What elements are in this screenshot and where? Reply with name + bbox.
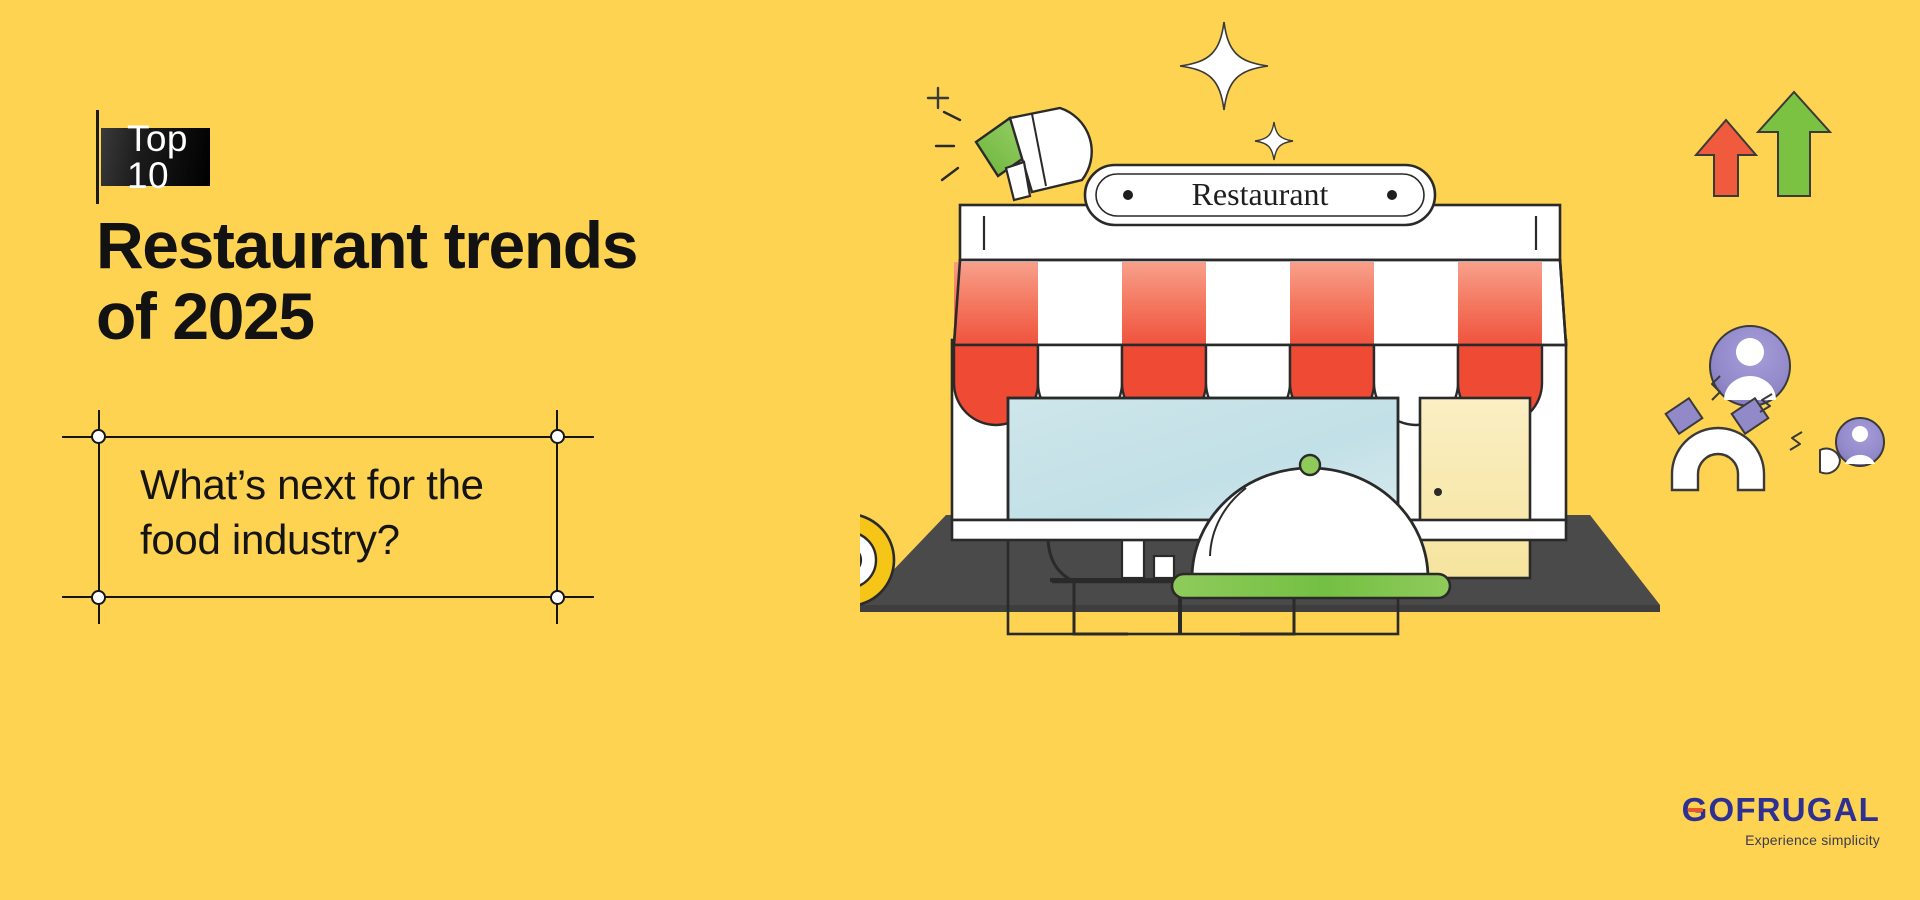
leaf-icon [1820,449,1840,474]
badge-tick-mark [96,110,99,204]
small-sparkle-icon [1255,122,1293,160]
badge-chip: Top 10 [101,128,210,186]
logo-tagline: Experience simplicity [1682,832,1880,848]
restaurant-illustration: Restaurant [860,0,1920,900]
frame-corner-dot-bottom-right [550,590,565,605]
page-subtitle: What’s next for the food industry? [140,458,560,567]
storefront-sign: Restaurant [1085,165,1435,225]
logo-wordmark: GOFRUGAL [1682,793,1880,826]
page-title: Restaurant trends of 2025 [96,210,816,351]
subhead-line-1: What’s next for the [140,461,484,508]
brand-logo: GOFRUGAL Experience simplicity [1682,793,1880,848]
headline-line-1: Restaurant trends [96,208,637,282]
user-avatar-large-icon [1710,326,1790,406]
storefront-door [1420,398,1530,578]
logo-accent-dash [1688,808,1703,812]
frame-edge-bottom [62,596,594,598]
logo-word-text: GOFRUGAL [1682,791,1880,828]
plus-spark-icon [928,88,948,108]
sparkle-icon [1180,22,1268,110]
poster-canvas: Top 10 Restaurant trends of 2025 What’s … [0,0,1920,900]
user-avatar-small-icon [1836,418,1884,466]
frame-corner-dot-top-right [550,429,565,444]
storefront-sign-text: Restaurant [1192,176,1329,212]
left-text-column: Top 10 Restaurant trends of 2025 What’s … [0,0,860,900]
frame-corner-dot-bottom-left [91,590,106,605]
frame-edge-top [62,436,594,438]
megaphone-icon [936,108,1092,200]
arrow-up-green-icon [1758,92,1830,196]
headline-line-2: of 2025 [96,281,816,352]
frame-corner-dot-top-left [91,429,106,444]
subhead-line-2: food industry? [140,513,560,568]
arrow-up-red-icon [1696,120,1756,196]
badge-label: Top 10 [127,120,188,194]
